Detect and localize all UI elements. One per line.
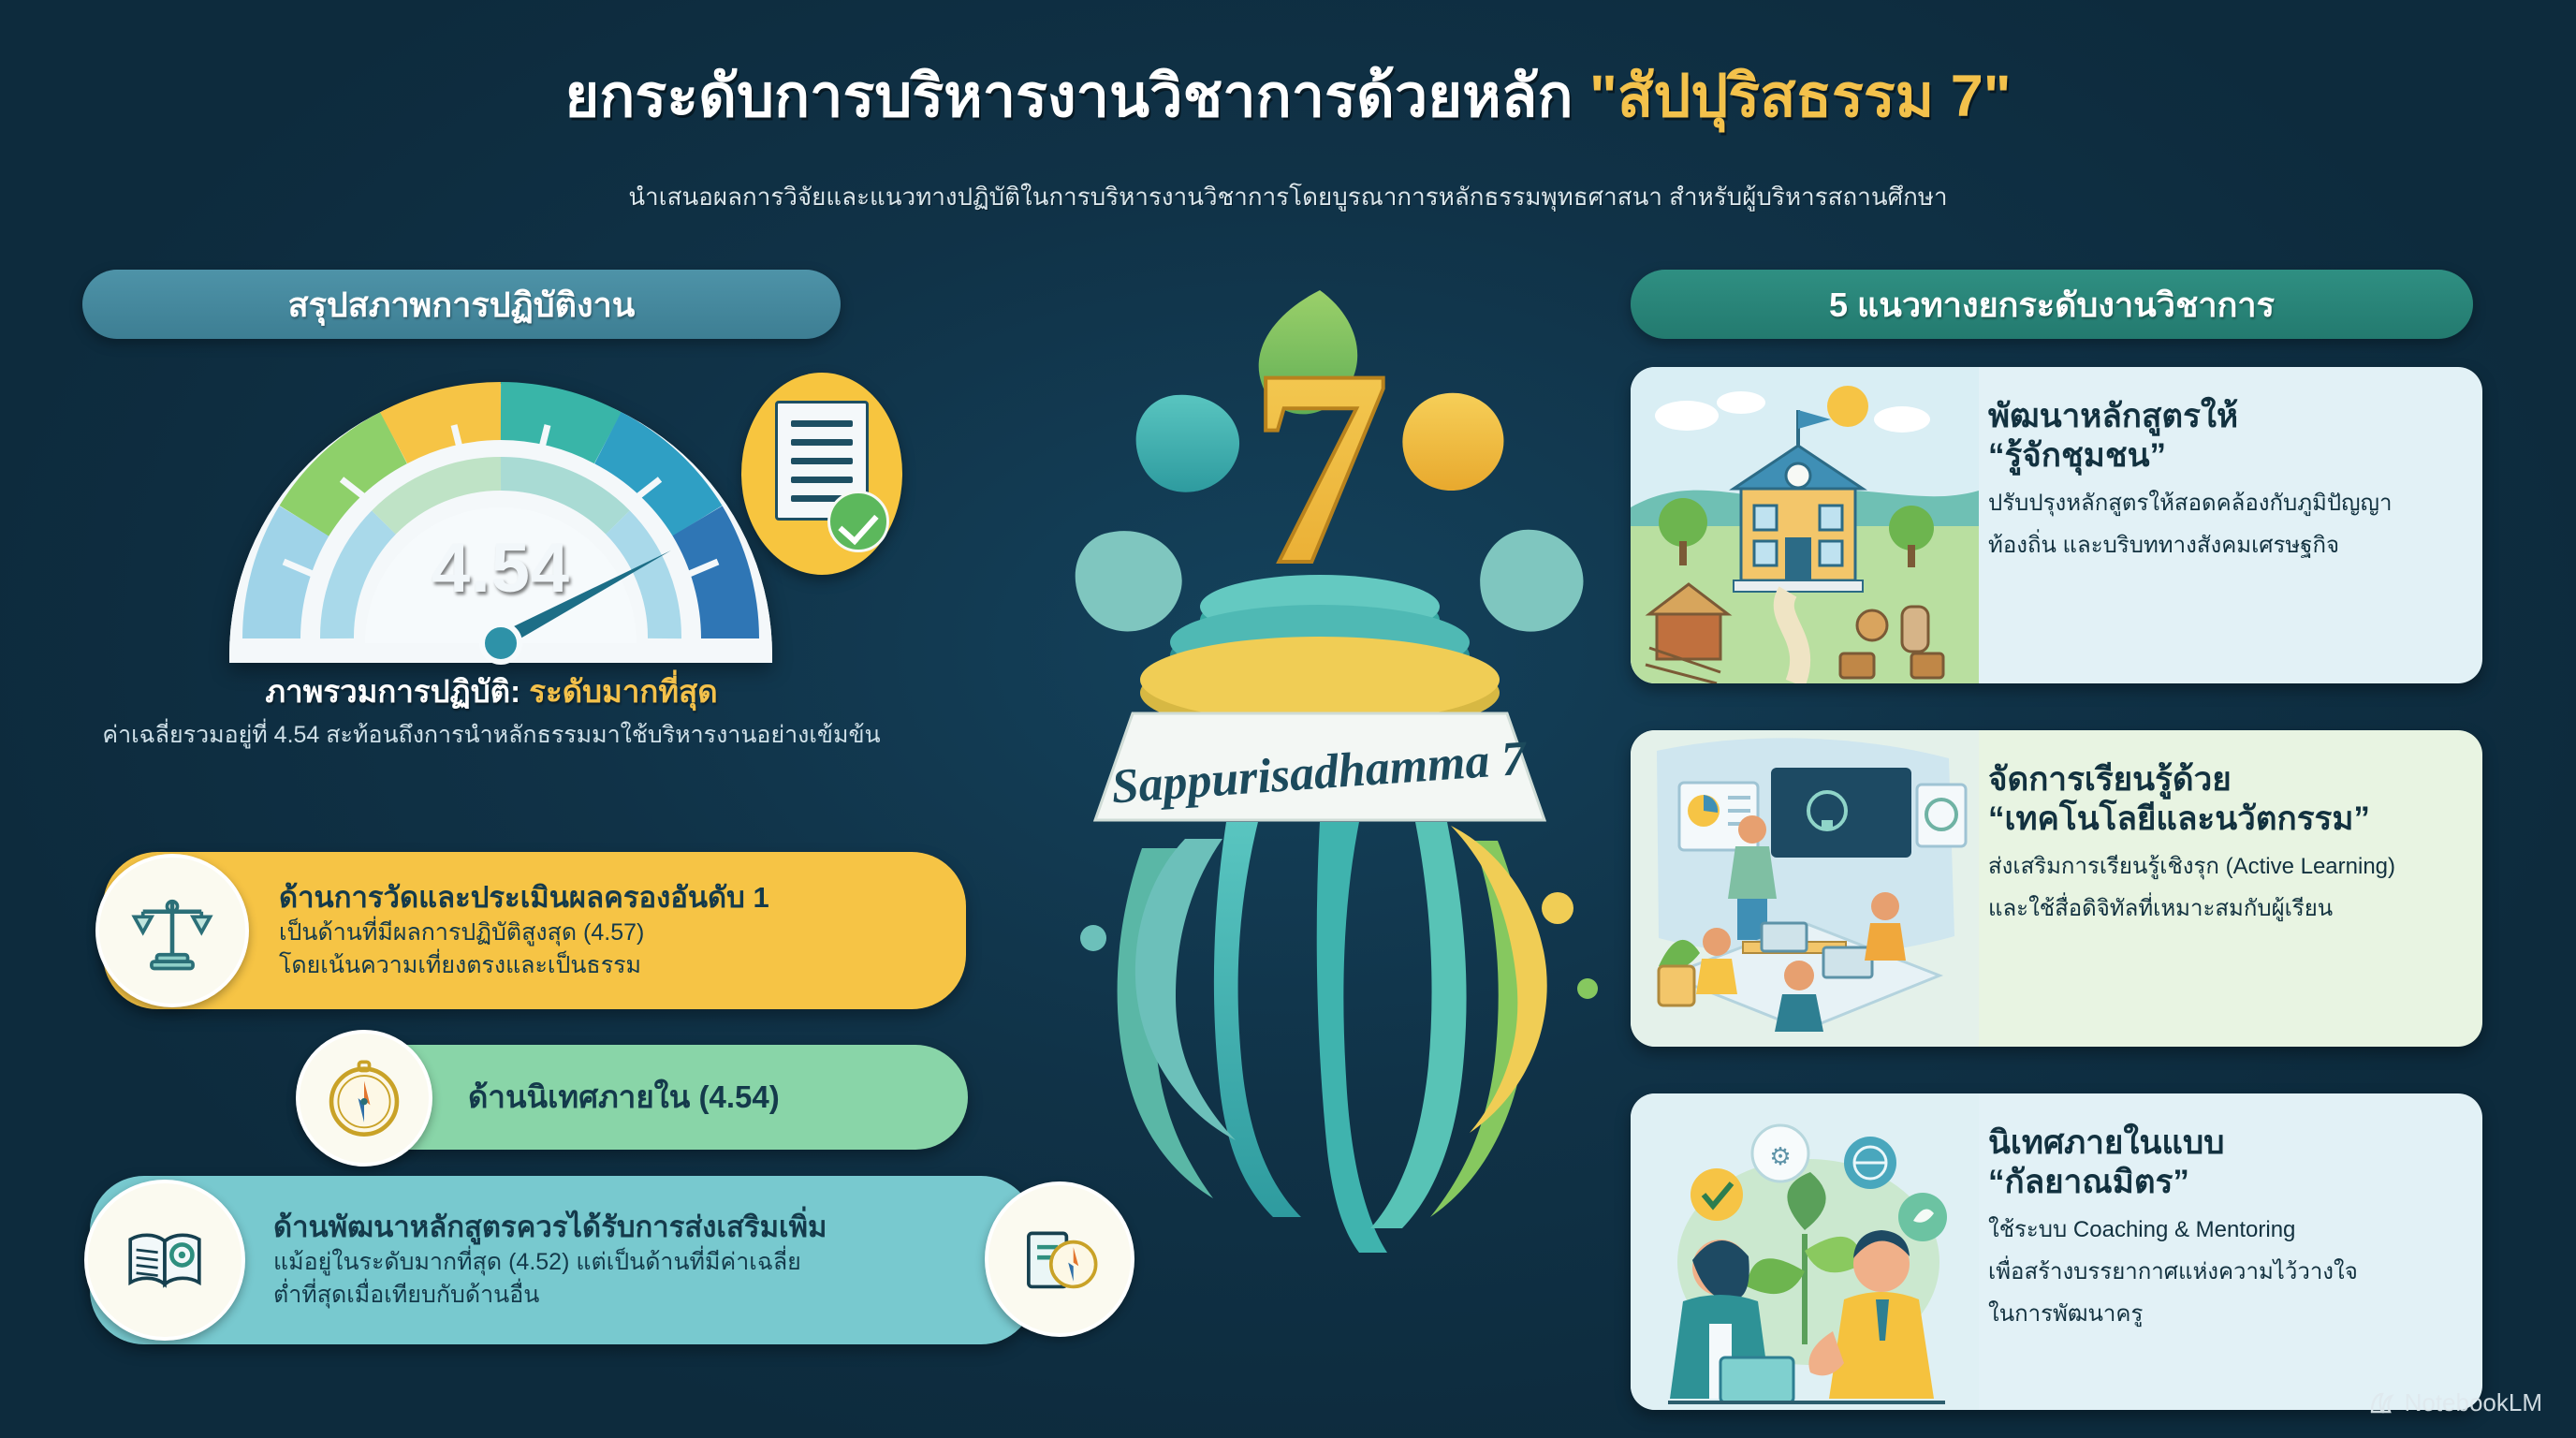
right-card-coaching-body-3: ในการพัฒนาครู	[1988, 1299, 2458, 1328]
page-title: ยกระดับการบริหารงานวิชาการด้วยหลัก "สัปป…	[0, 49, 2576, 142]
left-card-supervision-title: ด้านนิเทศภายใน (4.54)	[468, 1079, 780, 1116]
right-section-header: 5 แนวทางยกระดับงานวิชาการ	[1631, 270, 2473, 339]
school-community-illustration	[1631, 367, 1979, 683]
title-highlight: "สัปปุริสธรรม 7"	[1589, 64, 2012, 129]
right-card-curriculum-body-1: ปรับปรุงหลักสูตรให้สอดคล้องกับภูมิปัญญา	[1988, 489, 2458, 518]
digital-classroom-illustration	[1631, 730, 1979, 1047]
gauge-caption-value: ระดับมากที่สุด	[529, 674, 717, 709]
notebooklm-label: NotebookLM	[2405, 1388, 2542, 1417]
notebooklm-badge: NotebookLM	[2367, 1388, 2542, 1417]
left-card-curriculum[interactable]: ด้านพัฒนาหลักสูตรควรได้รับการส่งเสริมเพิ…	[90, 1176, 1035, 1344]
infographic-canvas: ยกระดับการบริหารงานวิชาการด้วยหลัก "สัปป…	[0, 0, 2576, 1438]
left-card-measurement[interactable]: ด้านการวัดและประเมินผลครองอันดับ 1 เป็นด…	[103, 852, 966, 1009]
right-card-curriculum-body-2: ท้องถิ่น และบริบททางสังคมเศรษฐกิจ	[1988, 531, 2458, 560]
left-card-curriculum-body-2: ต่ำที่สุดเมื่อเทียบกับด้านอื่น	[273, 1281, 827, 1310]
title-main: ยกระดับการบริหารงานวิชาการด้วยหลัก	[564, 64, 1573, 129]
right-card-technology-title-2: “เทคโนโลยีและนวัตกรรม”	[1988, 800, 2458, 839]
left-section-header: สรุปสภาพการปฏิบัติงาน	[82, 270, 841, 339]
book-gear-icon	[84, 1180, 245, 1341]
right-card-coaching-title-2: “กัลยาณมิตร”	[1988, 1163, 2458, 1202]
svg-text:⚙: ⚙	[1769, 1142, 1791, 1170]
right-card-coaching-body-1: ใช้ระบบ Coaching & Mentoring	[1988, 1215, 2458, 1244]
right-card-coaching-text: นิเทศภายในแบบ “กัลยาณมิตร” ใช้ระบบ Coach…	[1979, 1093, 2482, 1410]
central-seven-illustration: 7 Sappurisadhamma 7	[992, 253, 1647, 1301]
gauge-caption-label: ภาพรวมการปฏิบัติ:	[265, 674, 520, 709]
left-card-curriculum-text: ด้านพัฒนาหลักสูตรควรได้รับการส่งเสริมเพิ…	[273, 1211, 827, 1311]
right-card-curriculum-title-1: พัฒนาหลักสูตรให้	[1988, 397, 2458, 436]
performance-gauge: 4.54	[201, 358, 800, 667]
right-card-technology-body-1: ส่งเสริมการเรียนรู้เชิงรุก (Active Learn…	[1988, 852, 2458, 881]
page-subtitle: นำเสนอผลการวิจัยและแนวทางปฏิบัติในการบริ…	[0, 178, 2576, 216]
right-card-technology-title-1: จัดการเรียนรู้ด้วย	[1988, 760, 2458, 800]
right-card-curriculum-text: พัฒนาหลักสูตรให้ “รู้จักชุมชน” ปรับปรุงห…	[1979, 367, 2482, 683]
left-card-curriculum-title: ด้านพัฒนาหลักสูตรควรได้รับการส่งเสริมเพิ…	[273, 1211, 827, 1245]
document-check-badge	[741, 373, 902, 575]
compass-icon	[296, 1030, 432, 1167]
right-card-technology-text: จัดการเรียนรู้ด้วย “เทคโนโลยีและนวัตกรรม…	[1979, 730, 2482, 1047]
right-card-curriculum[interactable]: พัฒนาหลักสูตรให้ “รู้จักชุมชน” ปรับปรุงห…	[1631, 367, 2482, 683]
right-card-technology-body-2: และใช้สื่อดิจิทัลที่เหมาะสมกับผู้เรียน	[1988, 894, 2458, 923]
left-card-measurement-title: ด้านการวัดและประเมินผลครองอันดับ 1	[279, 881, 769, 916]
right-card-coaching-title-1: นิเทศภายในแบบ	[1988, 1123, 2458, 1163]
right-card-curriculum-title-2: “รู้จักชุมชน”	[1988, 436, 2458, 476]
gauge-caption: ภาพรวมการปฏิบัติ: ระดับมากที่สุด	[56, 667, 927, 716]
left-card-measurement-body-1: เป็นด้านที่มีผลการปฏิบัติสูงสุด (4.57)	[279, 918, 769, 947]
left-card-curriculum-body-1: แม้อยู่ในระดับมากที่สุด (4.52) แต่เป็นด้…	[273, 1248, 827, 1277]
right-card-coaching-body-2: เพื่อสร้างบรรยากาศแห่งความไว้วางใจ	[1988, 1257, 2458, 1286]
right-card-coaching[interactable]: ⚙ นิเทศภายในแบบ	[1631, 1093, 2482, 1410]
coaching-mentoring-illustration: ⚙	[1631, 1093, 1979, 1410]
left-card-supervision[interactable]: ด้านนิเทศภายใน (4.54)	[301, 1045, 968, 1150]
notebooklm-logo-icon	[2367, 1389, 2395, 1417]
left-card-supervision-text: ด้านนิเทศภายใน (4.54)	[468, 1079, 780, 1116]
left-card-measurement-body-2: โดยเน้นความเที่ยงตรงและเป็นธรรม	[279, 951, 769, 980]
right-card-technology[interactable]: จัดการเรียนรู้ด้วย “เทคโนโลยีและนวัตกรรม…	[1631, 730, 2482, 1047]
left-card-measurement-text: ด้านการวัดและประเมินผลครองอันดับ 1 เป็นด…	[279, 881, 769, 981]
gauge-value-label: 4.54	[201, 528, 800, 608]
gauge-subcaption: ค่าเฉลี่ยรวมอยู่ที่ 4.54 สะท้อนถึงการนำห…	[37, 716, 945, 754]
scales-icon	[95, 854, 249, 1007]
check-circle-icon	[827, 491, 889, 552]
